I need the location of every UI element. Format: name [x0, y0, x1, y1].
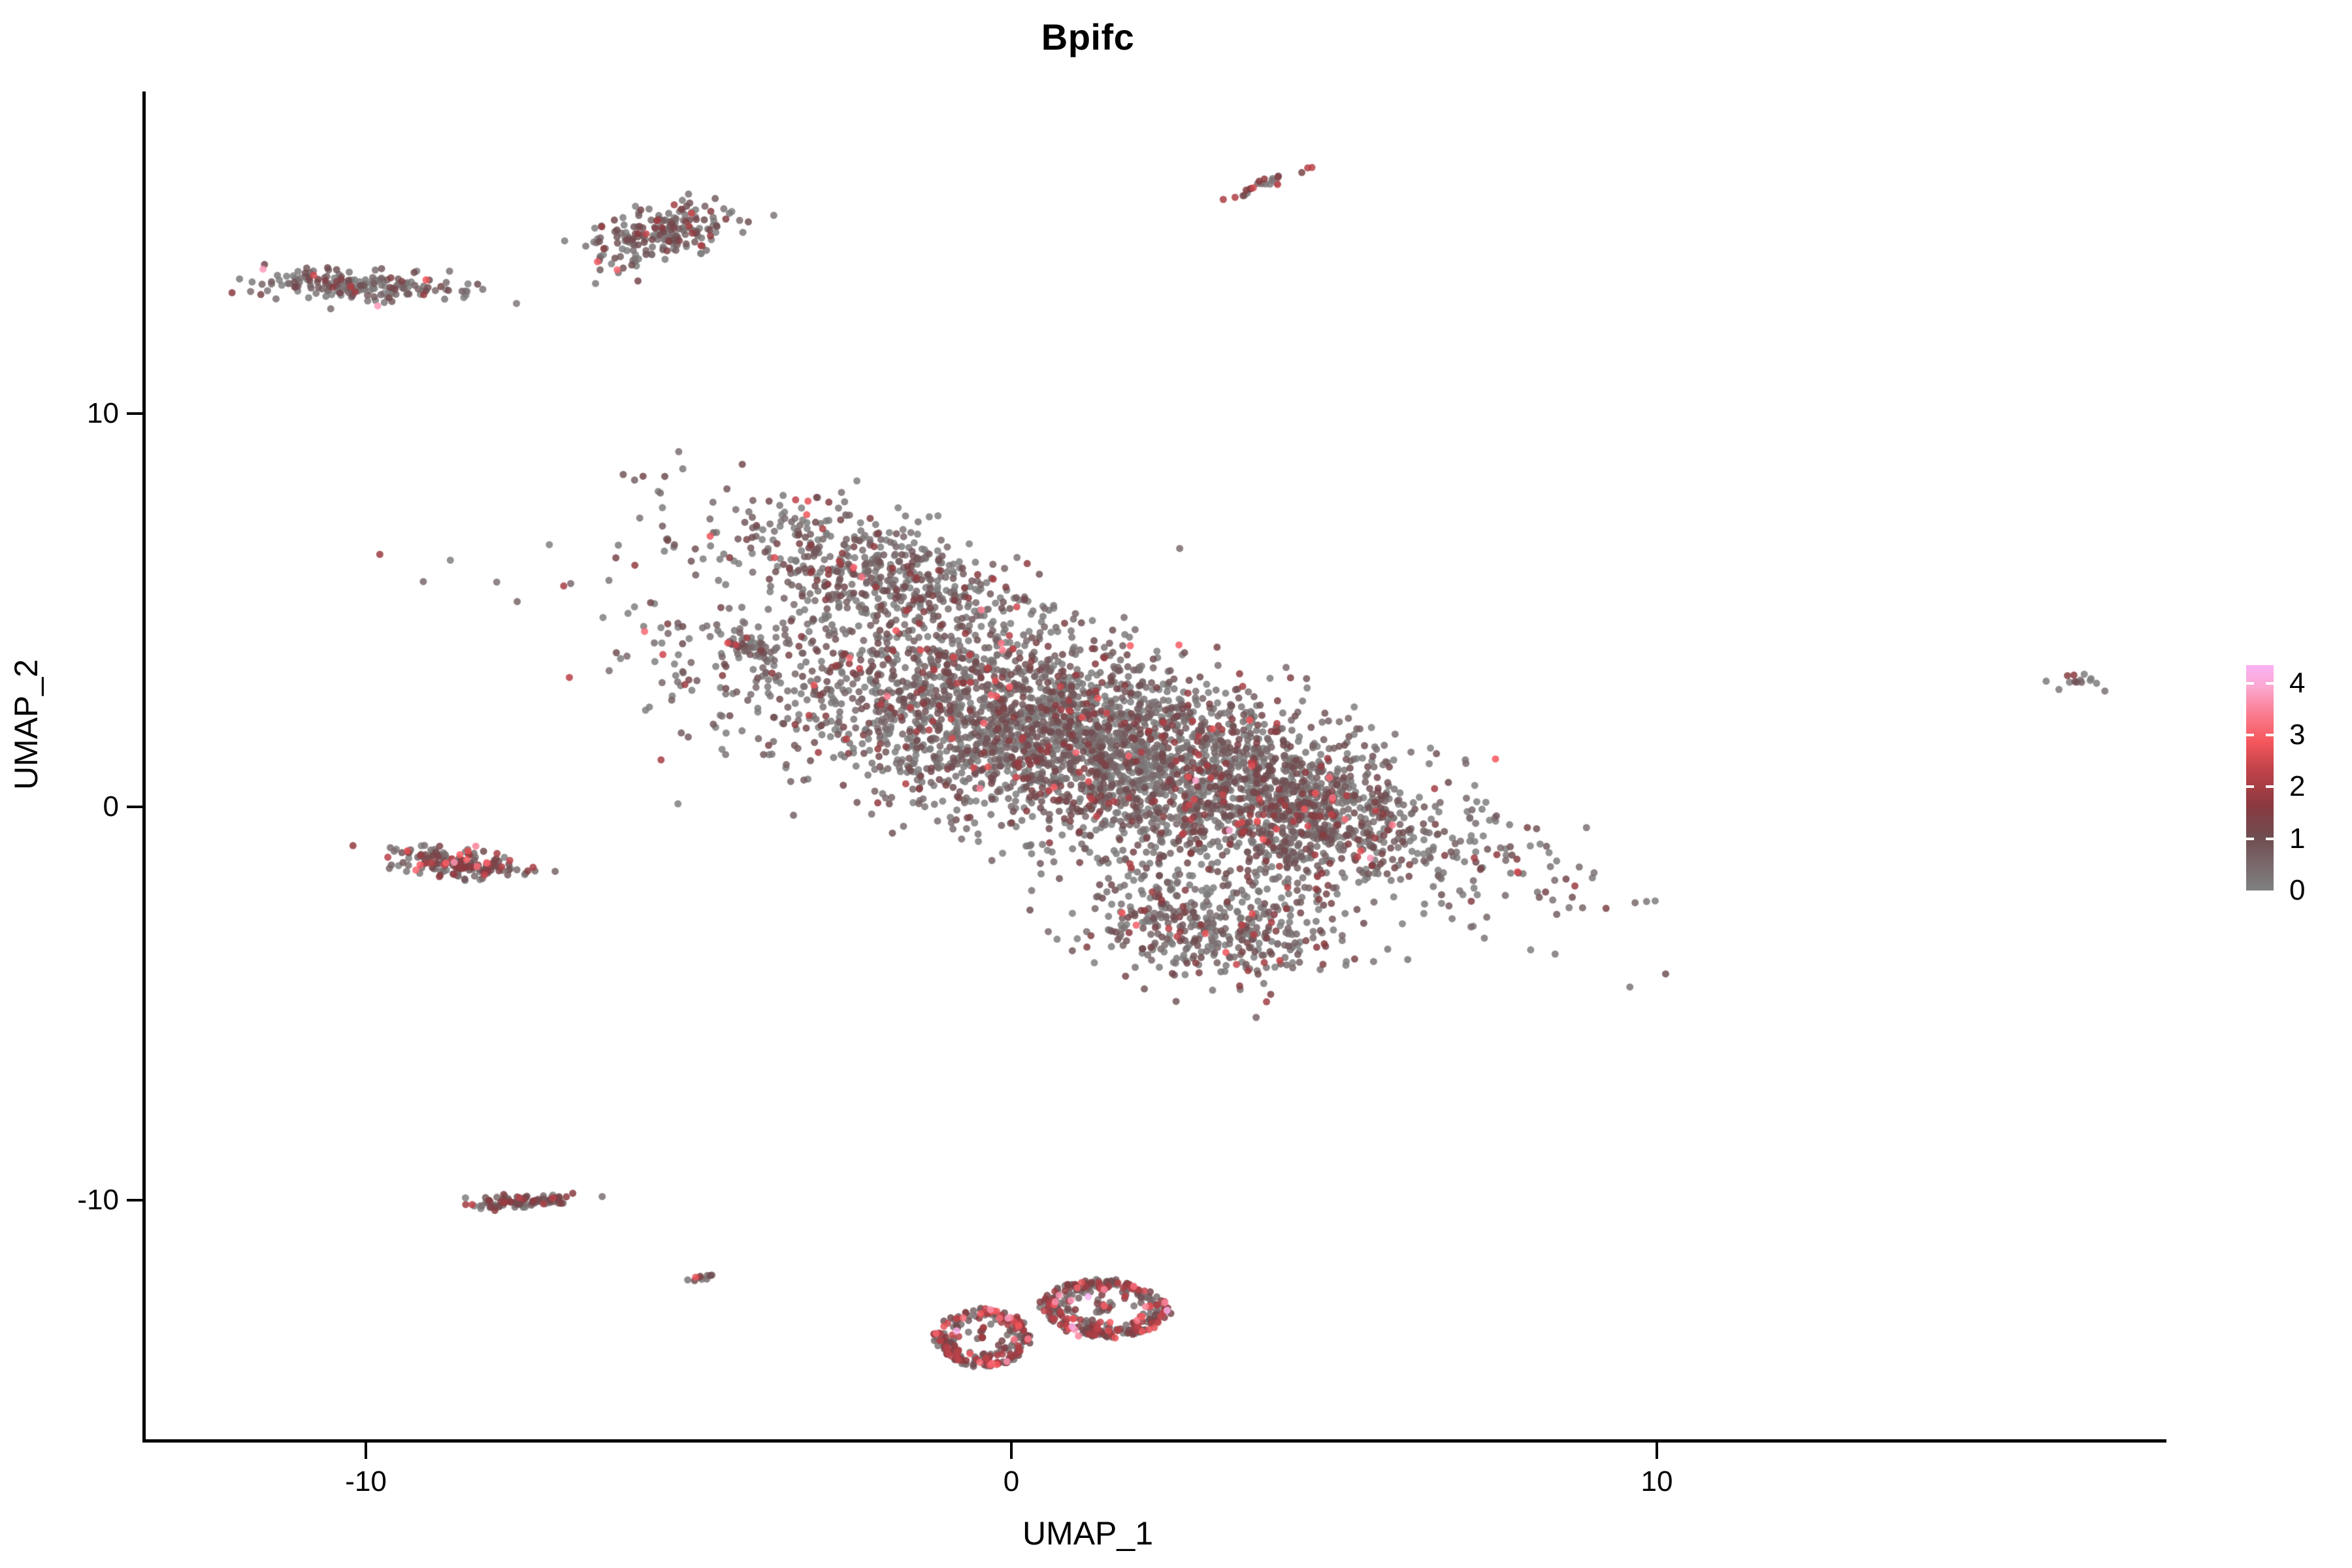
y-tick-label: 10 [87, 397, 119, 430]
y-tick-label: 0 [103, 791, 119, 823]
colorbar-gradient [2246, 665, 2274, 890]
x-axis-line [142, 1439, 2166, 1443]
x-tick-mark [1656, 1442, 1658, 1459]
umap-feature-plot: Bpifc 100-10 -10010 UMAP_1 UMAP_2 43210 [0, 0, 2352, 1568]
plot-panel [145, 91, 2164, 1441]
colorbar-tick-label: 2 [2289, 770, 2305, 803]
colorbar-tick-label: 1 [2289, 823, 2305, 855]
color-legend: 43210 [2246, 665, 2351, 894]
y-tick-mark [127, 412, 144, 415]
colorbar-tick-label: 0 [2289, 874, 2305, 907]
y-axis-line [142, 91, 146, 1442]
colorbar-tick-mark [2246, 838, 2254, 840]
x-tick-label: -10 [345, 1465, 387, 1498]
y-tick-mark [127, 806, 144, 808]
x-tick-mark [365, 1442, 367, 1459]
colorbar-tick-mark [2246, 734, 2254, 736]
colorbar-tick-label: 3 [2289, 719, 2305, 751]
x-tick-mark [1010, 1442, 1013, 1459]
x-axis-title: UMAP_1 [0, 1514, 2176, 1552]
page-title: Bpifc [0, 16, 2176, 58]
colorbar-tick-mark [2266, 838, 2274, 840]
scatter-points-canvas [145, 91, 2164, 1441]
x-tick-label: 0 [1004, 1465, 1019, 1498]
y-tick-label: -10 [77, 1184, 119, 1217]
y-axis-title: UMAP_2 [7, 333, 45, 1117]
x-tick-label: 10 [1641, 1465, 1673, 1498]
colorbar-tick-label: 4 [2289, 667, 2305, 700]
colorbar-tick-mark [2246, 682, 2254, 685]
colorbar-tick-mark [2266, 734, 2274, 736]
y-tick-mark [127, 1199, 144, 1201]
colorbar-tick-mark [2266, 682, 2274, 685]
colorbar-tick-mark [2246, 785, 2254, 788]
colorbar-tick-mark [2266, 785, 2274, 788]
